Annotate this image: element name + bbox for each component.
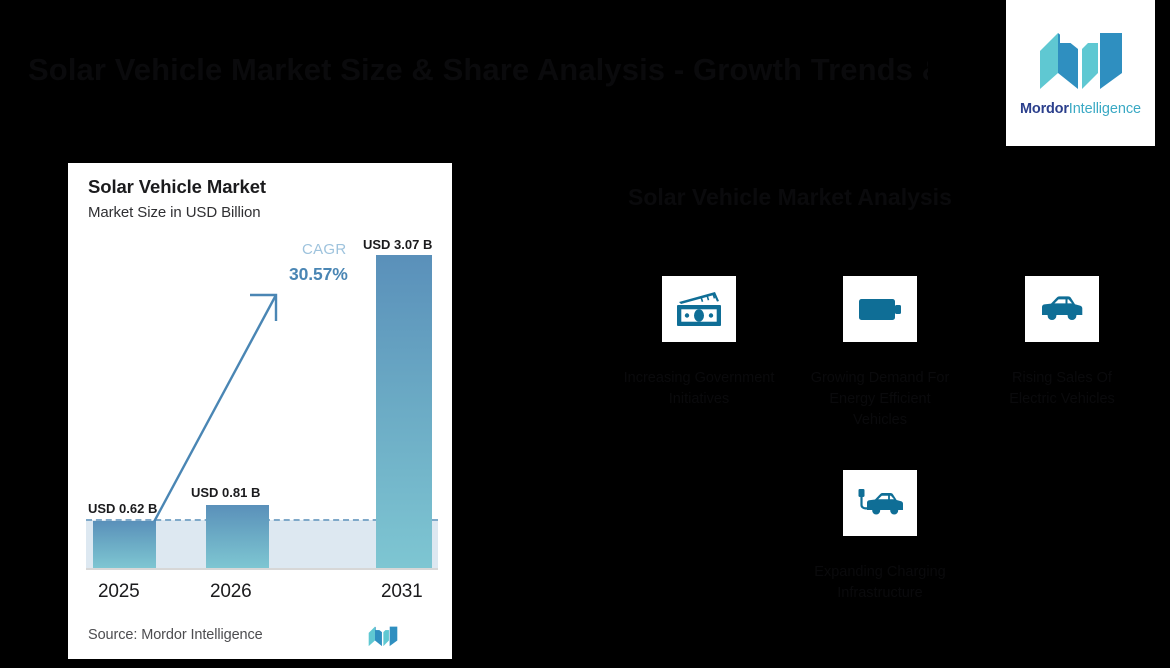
bar-label-2025: USD 0.62 B bbox=[88, 501, 157, 516]
bar-2026 bbox=[206, 505, 269, 568]
feature-item-charging-infrastructure: Expanding Charging Infrastructure bbox=[792, 470, 968, 604]
feature-icon-frame bbox=[843, 276, 917, 342]
feature-label: Expanding Charging Infrastructure bbox=[792, 562, 968, 604]
x-tick-2026: 2026 bbox=[210, 581, 251, 603]
chart-x-axis-line bbox=[86, 568, 438, 570]
section-heading: Solar Vehicle Market Analysis bbox=[628, 180, 1098, 214]
feature-item-energy-efficient-vehicles: Growing Demand For Energy Efficient Vehi… bbox=[792, 276, 968, 431]
page-title: Solar Vehicle Market Size & Share Analys… bbox=[28, 48, 928, 92]
feature-icon-frame bbox=[1025, 276, 1099, 342]
cagr-value: 30.57% bbox=[289, 264, 348, 285]
mordor-intelligence-logo-icon-small bbox=[368, 625, 398, 647]
x-tick-2031: 2031 bbox=[381, 581, 422, 603]
car-icon bbox=[1038, 289, 1086, 329]
chart-subtitle: Market Size in USD Billion bbox=[88, 204, 260, 221]
source-name: Mordor Intelligence bbox=[141, 627, 262, 643]
battery-icon bbox=[856, 289, 904, 329]
bar-label-2031: USD 3.07 B bbox=[363, 237, 432, 252]
brand-logo-block: MordorIntelligence bbox=[1006, 0, 1155, 146]
feature-label: Increasing Government Initiatives bbox=[611, 368, 787, 410]
brand-name-bold: Mordor bbox=[1020, 101, 1069, 117]
page-root: Solar Vehicle Market Size & Share Analys… bbox=[0, 0, 1170, 668]
chart-source-text: Source: Mordor Intelligence bbox=[88, 627, 263, 643]
bar-2025 bbox=[93, 521, 156, 568]
feature-label: Rising Sales Of Electric Vehicles bbox=[974, 368, 1150, 410]
bar-label-2026: USD 0.81 B bbox=[191, 485, 260, 500]
feature-item-electric-vehicle-sales: Rising Sales Of Electric Vehicles bbox=[974, 276, 1150, 410]
cagr-label: CAGR bbox=[302, 241, 347, 258]
money-icon bbox=[675, 289, 723, 329]
chart-title: Solar Vehicle Market bbox=[88, 176, 266, 198]
source-label: Source: bbox=[88, 627, 137, 643]
bar-2031 bbox=[376, 255, 432, 568]
feature-icon-frame bbox=[843, 470, 917, 536]
ev-charging-car-icon bbox=[856, 483, 904, 523]
chart-x-tick-labels: 2025 2026 2031 bbox=[86, 581, 438, 609]
brand-name-light: Intelligence bbox=[1069, 101, 1141, 117]
mordor-intelligence-logo-icon bbox=[1038, 29, 1124, 91]
feature-icon-frame bbox=[662, 276, 736, 342]
chart-plot-area: CAGR 30.57% USD 0.62 B USD 0.81 B USD 3.… bbox=[86, 243, 438, 576]
chart-source-row: Source: Mordor Intelligence bbox=[88, 625, 432, 651]
feature-item-government-initiatives: Increasing Government Initiatives bbox=[611, 276, 787, 410]
chart-card: Solar Vehicle Market Market Size in USD … bbox=[68, 163, 452, 659]
brand-wordmark: MordorIntelligence bbox=[1020, 102, 1141, 117]
feature-label: Growing Demand For Energy Efficient Vehi… bbox=[792, 368, 968, 431]
x-tick-2025: 2025 bbox=[98, 581, 139, 603]
